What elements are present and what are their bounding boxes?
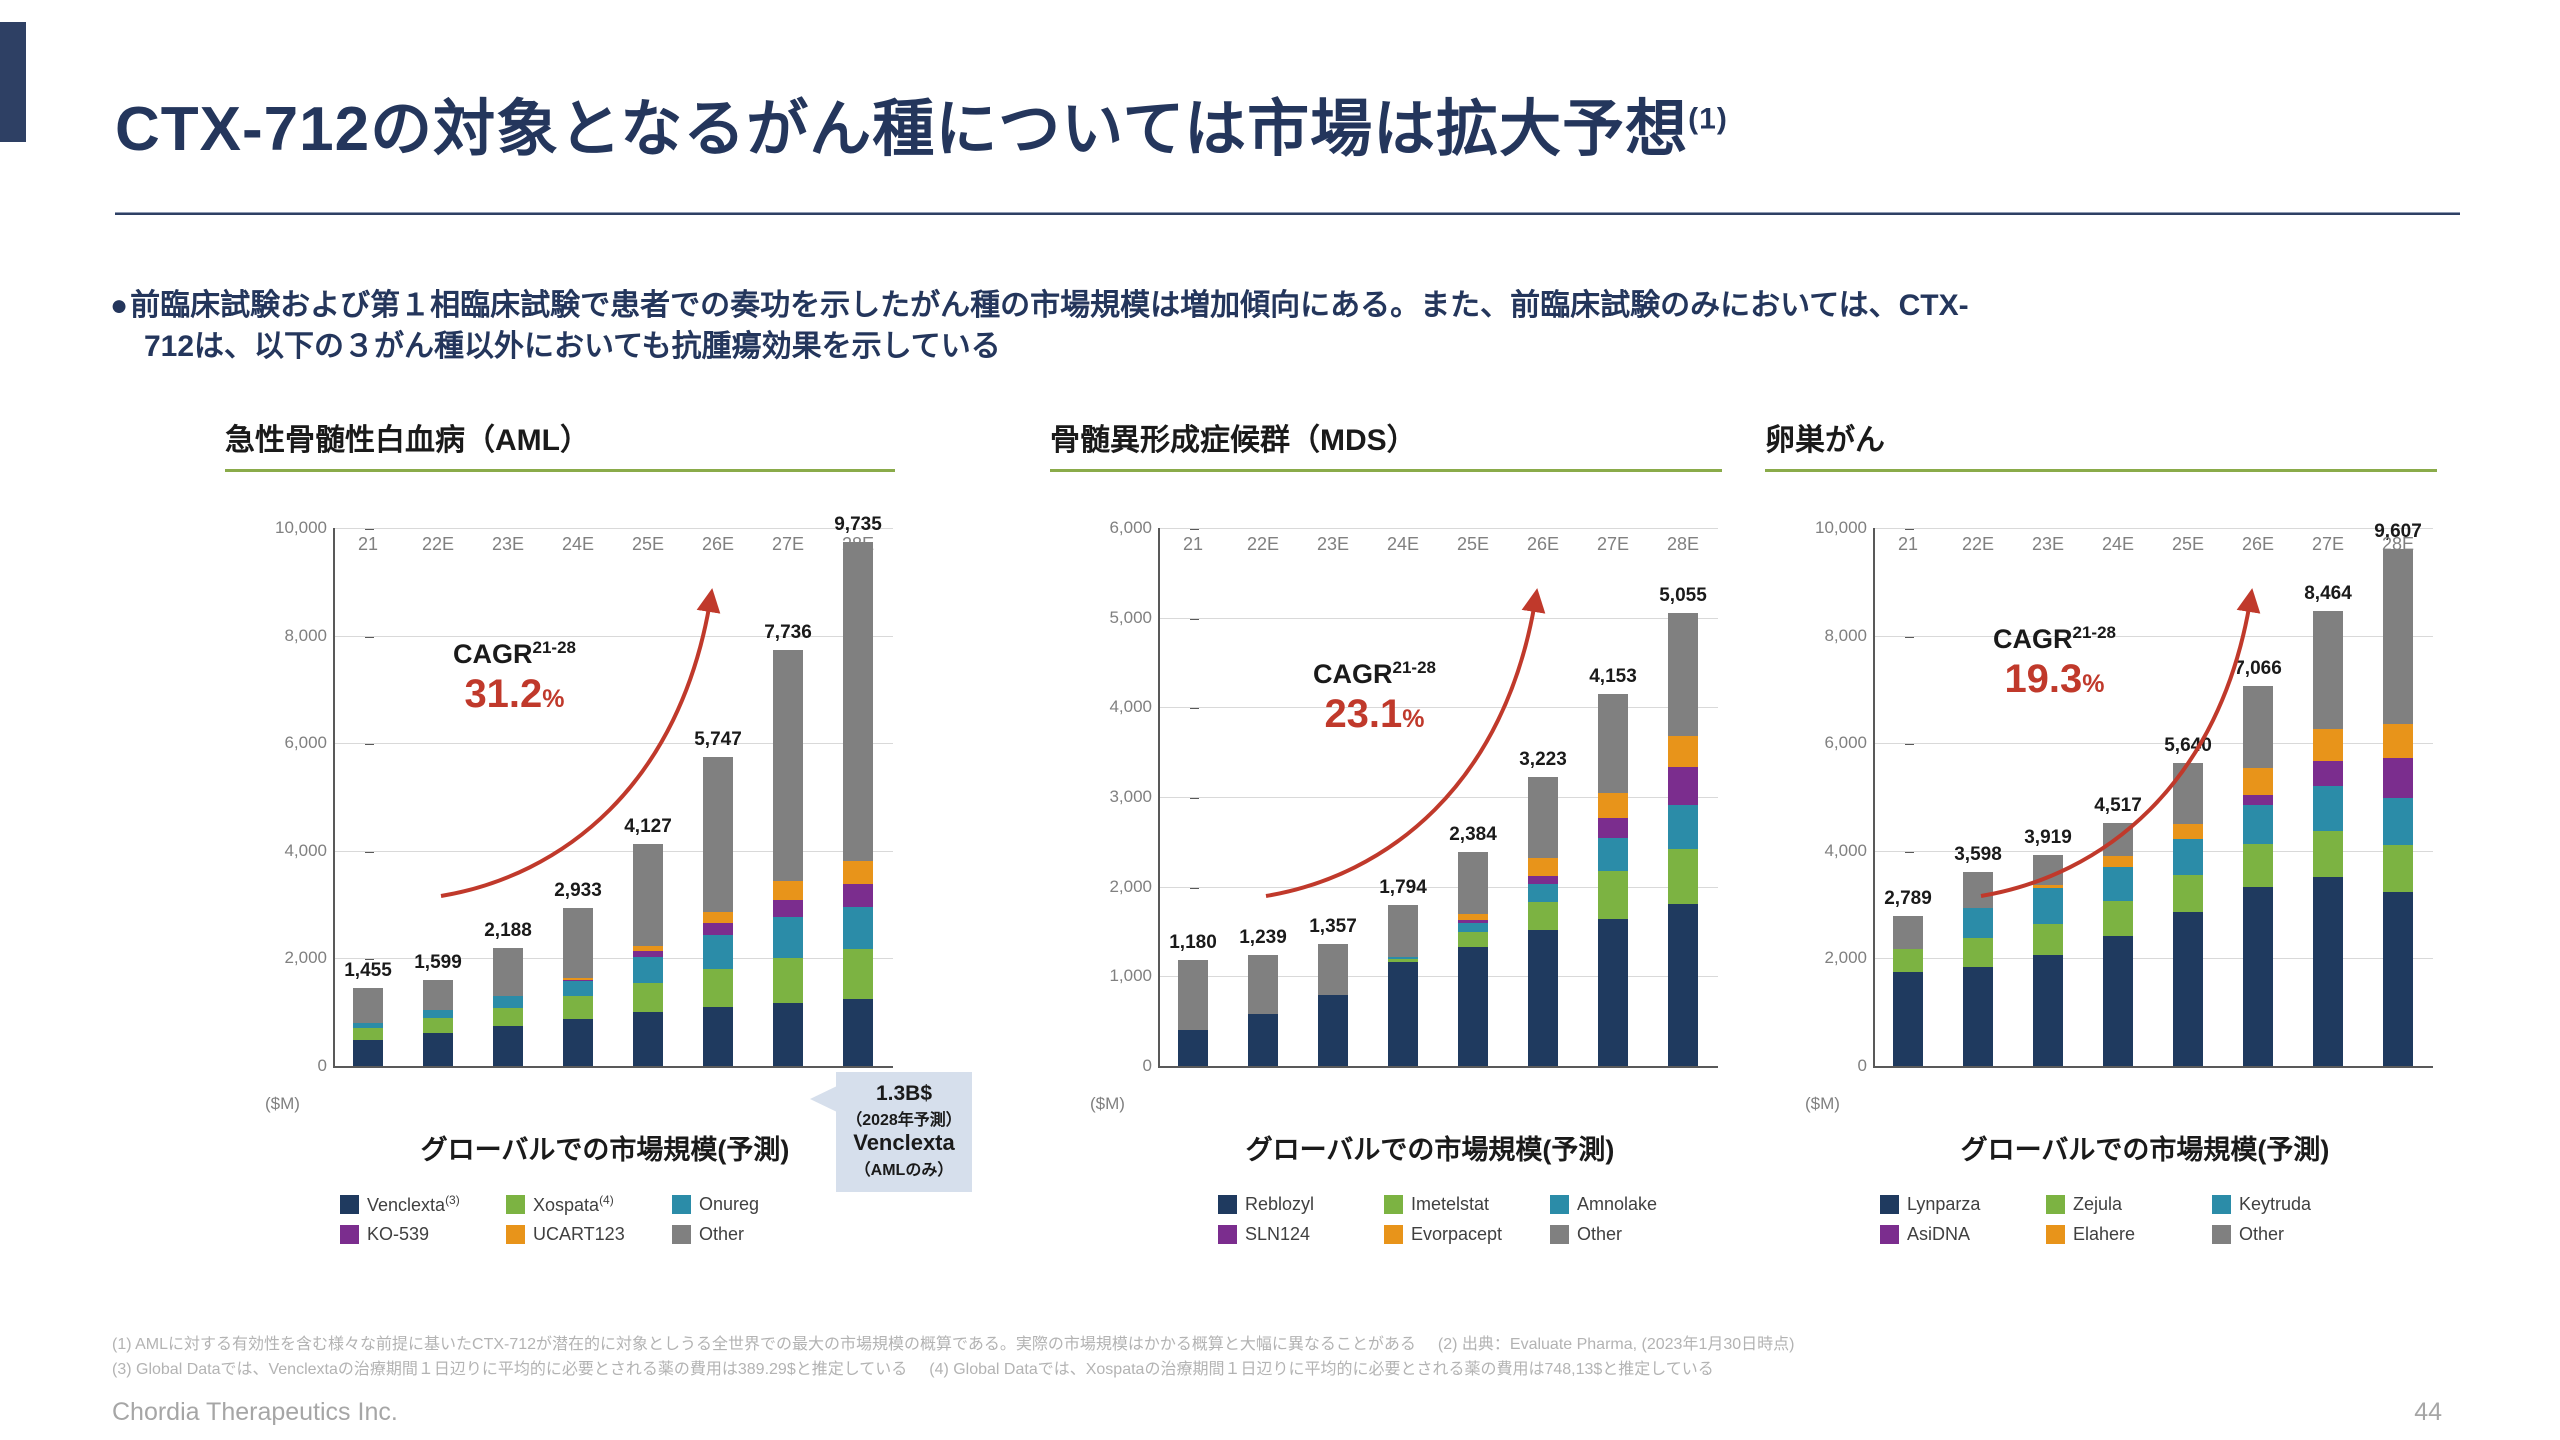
bar-column[interactable] — [1178, 960, 1207, 1066]
chart-plot-area: 02,0004,0006,0008,00010,0001,455211,5992… — [225, 516, 985, 1116]
bar-segment[interactable] — [2383, 798, 2412, 845]
bar-column[interactable] — [703, 757, 732, 1066]
bar-column[interactable] — [773, 650, 802, 1066]
x-axis-tick-label: 27E — [753, 534, 823, 555]
bar-segment[interactable] — [493, 1026, 522, 1066]
callout-value: 1.3B$ — [840, 1082, 968, 1106]
y-axis-tick-label: 6,000 — [1109, 518, 1152, 538]
bar-segment[interactable] — [1388, 962, 1417, 1066]
callout-tail-icon — [810, 1086, 837, 1112]
bar-segment[interactable] — [773, 1003, 802, 1066]
bar-segment[interactable] — [1963, 967, 1992, 1066]
legend-label-superscript: (3) — [445, 1193, 460, 1207]
bar-segment[interactable] — [843, 949, 872, 999]
bullet-text-2: 712は、以下の３がん種以外においても抗腫瘍効果を示している — [110, 326, 2470, 367]
bar-column[interactable] — [2243, 686, 2272, 1066]
bar-segment[interactable] — [493, 948, 522, 996]
legend-label: Venclexta(3) — [367, 1193, 460, 1216]
chart-title: 卵巣がん — [1765, 415, 2525, 459]
bar-segment[interactable] — [353, 1040, 382, 1066]
y-axis-tick-label: 8,000 — [1824, 626, 1867, 646]
legend-item[interactable]: AsiDNA — [1880, 1221, 2040, 1248]
legend-label: Other — [2239, 1224, 2284, 1245]
chart-title: 急性骨髄性白血病（AML） — [225, 415, 985, 459]
chart-title: 骨髄異形成症候群（MDS） — [1050, 415, 1810, 459]
chart-title-underline — [1765, 469, 2437, 472]
bar-segment[interactable] — [1458, 852, 1487, 914]
bar-segment[interactable] — [2313, 831, 2342, 877]
cagr-label: CAGR21-28 — [453, 638, 576, 670]
x-axis-line — [1873, 1066, 2433, 1068]
x-axis-tick-label: 27E — [2293, 534, 2363, 555]
bar-segment[interactable] — [2243, 686, 2272, 768]
bar-segment[interactable] — [1178, 1030, 1207, 1066]
bar-value-label: 5,747 — [694, 729, 742, 751]
x-axis-tick-label: 28E — [823, 534, 893, 555]
bar-segment[interactable] — [2173, 912, 2202, 1066]
cagr-label-text: CAGR — [1313, 659, 1393, 689]
cagr-value-unit: % — [1402, 705, 1424, 733]
bar-segment[interactable] — [1598, 818, 1627, 839]
legend-item[interactable]: Lynparza — [1880, 1191, 2040, 1218]
legend-color-swatch — [2212, 1225, 2231, 1244]
legend-item[interactable]: Other — [1550, 1221, 1710, 1248]
bar-segment[interactable] — [633, 957, 662, 983]
bar-segment[interactable] — [2103, 867, 2132, 901]
footnotes: (1) AMLに対する有効性を含む様々な前提に基いたCTX-712が潜在的に対象… — [112, 1333, 2442, 1383]
bar-segment[interactable] — [2313, 611, 2342, 729]
bar-segment[interactable] — [1893, 949, 1922, 972]
bar-segment[interactable] — [703, 757, 732, 912]
chart-legend: Venclexta(3)Xospata(4)OnuregKO-539UCART1… — [340, 1191, 832, 1248]
footnote-2: (2) 出典：Evaluate Pharma, (2023年1月30日時点) — [1438, 1336, 1795, 1353]
bullet-paragraph: ●前臨床試験および第１相臨床試験で患者での奏功を示したがん種の市場規模は増加傾向… — [110, 285, 2470, 368]
cagr-value-unit: % — [542, 685, 564, 713]
legend-item[interactable]: Keytruda — [2212, 1191, 2372, 1218]
legend-color-swatch — [672, 1195, 691, 1214]
legend-item[interactable]: Elahere — [2046, 1221, 2206, 1248]
x-axis-tick-label: 22E — [1228, 534, 1298, 555]
bar-segment[interactable] — [1528, 884, 1557, 903]
bar-column[interactable] — [1668, 613, 1697, 1066]
legend-item[interactable]: Xospata(4) — [506, 1191, 666, 1218]
legend-item[interactable]: Amnolake — [1550, 1191, 1710, 1218]
bar-column[interactable] — [2173, 763, 2202, 1066]
bar-segment[interactable] — [843, 907, 872, 950]
chart-canvas: 1,180211,23922E1,35723E1,79424E2,38425E3… — [1158, 528, 1718, 1068]
chart-legend: LynparzaZejulaKeytrudaAsiDNAElahereOther — [1880, 1191, 2372, 1248]
bar-value-label: 2,384 — [1449, 824, 1497, 846]
bar-segment[interactable] — [2033, 888, 2062, 924]
bar-segment[interactable] — [423, 980, 452, 1010]
bar-segment[interactable] — [1963, 908, 1992, 938]
legend-label: Reblozyl — [1245, 1194, 1314, 1215]
cagr-label: CAGR21-28 — [1313, 658, 1436, 690]
legend-color-swatch — [1218, 1195, 1237, 1214]
legend-color-swatch — [2046, 1195, 2065, 1214]
legend-item[interactable]: Evorpacept — [1384, 1221, 1544, 1248]
bar-segment[interactable] — [2383, 724, 2412, 758]
bar-segment[interactable] — [353, 1028, 382, 1040]
bar-segment[interactable] — [423, 1018, 452, 1032]
legend-item[interactable]: KO-539 — [340, 1221, 500, 1248]
bar-value-label: 1,599 — [414, 952, 462, 974]
bar-column[interactable] — [1388, 905, 1417, 1066]
legend-label: Onureg — [699, 1194, 759, 1215]
page-title-superscript: (1) — [1688, 102, 1728, 135]
bar-column[interactable] — [2383, 549, 2412, 1066]
legend-item[interactable]: Other — [672, 1221, 832, 1248]
bar-segment[interactable] — [563, 908, 592, 978]
chart-caption: グローバルでの市場規模(予測) — [1765, 1128, 2525, 1167]
bar-segment[interactable] — [2103, 856, 2132, 867]
bar-segment[interactable] — [1528, 902, 1557, 930]
legend-label: Imetelstat — [1411, 1194, 1489, 1215]
bullet-line-1: ●前臨床試験および第１相臨床試験で患者での奏功を示したがん種の市場規模は増加傾向… — [110, 285, 2470, 326]
bar-segment[interactable] — [843, 861, 872, 885]
bar-segment[interactable] — [703, 969, 732, 1008]
bar-value-label: 3,598 — [1954, 844, 2002, 866]
x-axis-tick-label: 25E — [613, 534, 683, 555]
chart-panel-aml: 急性骨髄性白血病（AML）02,0004,0006,0008,00010,000… — [225, 415, 985, 1116]
bar-segment[interactable] — [2243, 887, 2272, 1066]
bar-segment[interactable] — [563, 996, 592, 1019]
legend-label: Other — [1577, 1224, 1622, 1245]
footnote-row-2: (3) Global Dataでは、Venclextaの治療期間１日辺りに平均的… — [112, 1358, 2442, 1383]
cagr-period: 21-28 — [533, 638, 576, 657]
y-axis-tick-label: 10,000 — [275, 518, 327, 538]
bar-value-label: 9,735 — [834, 514, 882, 536]
chart-plot-area: 01,0002,0003,0004,0005,0006,0001,180211,… — [1050, 516, 1810, 1116]
y-axis-tick-label: 8,000 — [284, 626, 327, 646]
bar-segment[interactable] — [2243, 844, 2272, 887]
bar-segment[interactable] — [633, 983, 662, 1012]
chart-title-underline — [225, 469, 895, 472]
bar-segment[interactable] — [1598, 838, 1627, 871]
bar-group — [333, 528, 893, 1066]
y-axis-tick-label: 3,000 — [1109, 787, 1152, 807]
bar-column[interactable] — [2103, 823, 2132, 1066]
bar-value-label: 2,933 — [554, 880, 602, 902]
y-axis-tick-label: 2,000 — [1109, 877, 1152, 897]
bar-segment[interactable] — [493, 1008, 522, 1027]
y-axis-ticks: 01,0002,0003,0004,0005,0006,000 — [1090, 528, 1152, 1068]
bar-segment[interactable] — [1248, 1014, 1277, 1066]
x-axis-tick-label: 28E — [2363, 534, 2433, 555]
bar-segment[interactable] — [703, 923, 732, 935]
bar-segment[interactable] — [843, 542, 872, 860]
cagr-value: 19.3% — [1993, 657, 2116, 702]
bullet-dot-icon: ● — [110, 289, 128, 322]
legend-item[interactable]: Zejula — [2046, 1191, 2206, 1218]
bar-column[interactable] — [563, 908, 592, 1066]
cagr-label: CAGR21-28 — [1993, 623, 2116, 655]
bar-value-label: 1,455 — [344, 960, 392, 982]
legend-label: Keytruda — [2239, 1194, 2311, 1215]
bar-segment[interactable] — [703, 935, 732, 968]
chart-panel-mds: 骨髄異形成症候群（MDS）01,0002,0003,0004,0005,0006… — [1050, 415, 1810, 1116]
legend-color-swatch — [1384, 1225, 1403, 1244]
bar-column[interactable] — [493, 948, 522, 1066]
y-axis-tick-label: 10,000 — [1815, 518, 1867, 538]
legend-item[interactable]: Imetelstat — [1384, 1191, 1544, 1218]
bar-segment[interactable] — [423, 1010, 452, 1018]
bar-segment[interactable] — [353, 988, 382, 1023]
chart-title-underline — [1050, 469, 1722, 472]
legend-item[interactable]: Other — [2212, 1221, 2372, 1248]
bar-segment[interactable] — [2103, 936, 2132, 1066]
x-axis-tick-label: 21 — [1873, 534, 1943, 555]
bar-segment[interactable] — [2383, 549, 2412, 724]
bar-segment[interactable] — [2173, 763, 2202, 825]
x-axis-tick-label: 27E — [1578, 534, 1648, 555]
bar-column[interactable] — [1318, 944, 1347, 1066]
bar-segment[interactable] — [1963, 938, 1992, 967]
legend-color-swatch — [506, 1195, 525, 1214]
chart-canvas: 1,455211,59922E2,18823E2,93324E4,12725E5… — [333, 528, 893, 1068]
bar-segment[interactable] — [1528, 858, 1557, 876]
bar-value-label: 1,794 — [1379, 877, 1427, 899]
x-axis-tick-label: 26E — [1508, 534, 1578, 555]
bar-segment[interactable] — [563, 1019, 592, 1066]
x-axis-tick-label: 24E — [543, 534, 613, 555]
bar-group — [1158, 528, 1718, 1066]
legend-label: SLN124 — [1245, 1224, 1310, 1245]
bar-segment[interactable] — [1668, 904, 1697, 1066]
chart-canvas: 2,789213,59822E3,91923E4,51724E5,64025E7… — [1873, 528, 2433, 1068]
callout-scope: （AMLのみ） — [840, 1156, 968, 1180]
legend-color-swatch — [340, 1195, 359, 1214]
bar-value-label: 1,180 — [1169, 932, 1217, 954]
bar-segment[interactable] — [2313, 786, 2342, 831]
bar-value-label: 5,055 — [1659, 585, 1707, 607]
footnote-row-1: (1) AMLに対する有効性を含む様々な前提に基いたCTX-712が潜在的に対象… — [112, 1333, 2442, 1358]
bar-segment[interactable] — [1528, 777, 1557, 858]
bar-segment[interactable] — [1598, 871, 1627, 919]
legend-label: Lynparza — [1907, 1194, 1980, 1215]
bar-segment[interactable] — [773, 650, 802, 881]
legend-color-swatch — [1550, 1225, 1569, 1244]
bar-segment[interactable] — [2313, 877, 2342, 1066]
bar-segment[interactable] — [2383, 758, 2412, 798]
bar-segment[interactable] — [1458, 923, 1487, 933]
bar-segment[interactable] — [493, 996, 522, 1008]
page-title: CTX-712の対象となるがん種については市場は拡大予想(1) — [115, 78, 2465, 168]
bar-segment[interactable] — [1458, 947, 1487, 1066]
cagr-value-number: 23.1 — [1324, 692, 1402, 736]
x-axis-tick-label: 24E — [1368, 534, 1438, 555]
bar-segment[interactable] — [1668, 736, 1697, 767]
legend-color-swatch — [1218, 1225, 1237, 1244]
bar-column[interactable] — [1598, 694, 1627, 1066]
cagr-value-number: 19.3 — [2004, 657, 2082, 701]
x-axis-tick-label: 26E — [683, 534, 753, 555]
legend-label: AsiDNA — [1907, 1224, 1970, 1245]
bar-column[interactable] — [843, 542, 872, 1066]
bar-segment[interactable] — [2313, 761, 2342, 786]
chart-panel-ovarian: 卵巣がん02,0004,0006,0008,00010,0002,789213,… — [1765, 415, 2525, 1116]
cagr-annotation: CAGR21-2823.1% — [1313, 658, 1436, 737]
bar-segment[interactable] — [1668, 613, 1697, 736]
legend-label: Evorpacept — [1411, 1224, 1502, 1245]
bar-column[interactable] — [353, 988, 382, 1066]
legend-item[interactable]: SLN124 — [1218, 1221, 1378, 1248]
bar-segment[interactable] — [1528, 930, 1557, 1066]
bar-column[interactable] — [423, 980, 452, 1066]
bar-segment[interactable] — [2033, 924, 2062, 955]
chart-plot-area: 02,0004,0006,0008,00010,0002,789213,5982… — [1765, 516, 2525, 1116]
bar-segment[interactable] — [2243, 805, 2272, 845]
bar-value-label: 5,640 — [2164, 735, 2212, 757]
bar-value-label: 4,127 — [624, 816, 672, 838]
bar-segment[interactable] — [2243, 795, 2272, 805]
bar-segment[interactable] — [633, 844, 662, 946]
bar-segment[interactable] — [703, 912, 732, 924]
cagr-value: 23.1% — [1313, 692, 1436, 737]
bar-segment[interactable] — [1528, 876, 1557, 884]
bar-segment[interactable] — [2173, 824, 2202, 839]
callout-year: （2028年予測） — [840, 1106, 968, 1130]
bar-segment[interactable] — [1893, 972, 1922, 1066]
x-axis-tick-label: 22E — [1943, 534, 2013, 555]
bar-segment[interactable] — [2173, 875, 2202, 913]
bar-segment[interactable] — [1178, 960, 1207, 1030]
bar-segment[interactable] — [1318, 944, 1347, 995]
bar-segment[interactable] — [773, 900, 802, 918]
bar-value-label: 7,736 — [764, 622, 812, 644]
legend-color-swatch — [1550, 1195, 1569, 1214]
bar-segment[interactable] — [703, 1007, 732, 1066]
bar-segment[interactable] — [1458, 932, 1487, 946]
cagr-label-text: CAGR — [1993, 624, 2073, 654]
cagr-value-number: 31.2 — [464, 672, 542, 716]
chart-legend: ReblozylImetelstatAmnolakeSLN124Evorpace… — [1218, 1191, 1710, 1248]
legend-item[interactable]: Venclexta(3) — [340, 1191, 500, 1218]
bar-value-label: 4,517 — [2094, 795, 2142, 817]
bar-segment[interactable] — [1963, 872, 1992, 907]
bar-value-label: 2,188 — [484, 920, 532, 942]
bar-segment[interactable] — [1598, 694, 1627, 793]
bar-segment[interactable] — [2383, 892, 2412, 1066]
bar-segment[interactable] — [773, 958, 802, 1003]
legend-color-swatch — [2212, 1195, 2231, 1214]
bar-column[interactable] — [1458, 852, 1487, 1066]
bar-segment[interactable] — [2033, 955, 2062, 1066]
x-axis-tick-label: 23E — [1298, 534, 1368, 555]
bar-segment[interactable] — [1893, 916, 1922, 949]
bar-column[interactable] — [1248, 955, 1277, 1066]
cagr-period: 21-28 — [2073, 623, 2116, 642]
bar-column[interactable] — [1963, 872, 1992, 1066]
bar-segment[interactable] — [1668, 805, 1697, 849]
bar-segment[interactable] — [2173, 839, 2202, 875]
legend-item[interactable]: Onureg — [672, 1191, 832, 1218]
legend-label: Zejula — [2073, 1194, 2122, 1215]
y-axis-tick-label: 4,000 — [1109, 697, 1152, 717]
bar-value-label: 1,239 — [1239, 927, 1287, 949]
slide-accent-bar — [0, 22, 26, 142]
cagr-annotation: CAGR21-2819.3% — [1993, 623, 2116, 702]
bar-column[interactable] — [1893, 916, 1922, 1066]
bar-segment[interactable] — [1598, 919, 1627, 1067]
bar-segment[interactable] — [633, 1012, 662, 1066]
cagr-annotation: CAGR21-2831.2% — [453, 638, 576, 717]
bar-segment[interactable] — [1388, 905, 1417, 956]
page-title-text: CTX-712の対象となるがん種については市場は拡大予想 — [115, 95, 1688, 164]
bar-segment[interactable] — [843, 884, 872, 907]
legend-label: Xospata(4) — [533, 1193, 614, 1216]
legend-label-superscript: (4) — [599, 1193, 614, 1207]
y-axis-tick-label: 0 — [1143, 1056, 1152, 1076]
x-axis-tick-label: 23E — [473, 534, 543, 555]
bar-column[interactable] — [2033, 855, 2062, 1066]
bar-segment[interactable] — [773, 881, 802, 900]
bar-segment[interactable] — [843, 999, 872, 1066]
bar-value-label: 4,153 — [1589, 666, 1637, 688]
axis-unit-label: ($M) — [265, 1094, 300, 1114]
bar-column[interactable] — [633, 844, 662, 1066]
legend-item[interactable]: Reblozyl — [1218, 1191, 1378, 1218]
y-axis-tick-label: 4,000 — [1824, 841, 1867, 861]
y-axis-ticks: 02,0004,0006,0008,00010,000 — [265, 528, 327, 1068]
page-title-block: CTX-712の対象となるがん種については市場は拡大予想(1) — [115, 78, 2465, 168]
cagr-label-text: CAGR — [453, 639, 533, 669]
legend-item[interactable]: UCART123 — [506, 1221, 666, 1248]
legend-color-swatch — [672, 1225, 691, 1244]
x-axis-line — [1158, 1066, 1718, 1068]
bar-segment[interactable] — [2103, 823, 2132, 856]
x-axis-tick-label: 21 — [333, 534, 403, 555]
title-divider — [115, 212, 2460, 215]
bar-segment[interactable] — [773, 917, 802, 958]
legend-color-swatch — [506, 1225, 525, 1244]
footnote-3: (3) Global Dataでは、Venclextaの治療期間１日辺りに平均的… — [112, 1361, 907, 1378]
y-axis-tick-label: 6,000 — [1824, 733, 1867, 753]
x-axis-tick-label: 25E — [1438, 534, 1508, 555]
legend-label: Elahere — [2073, 1224, 2135, 1245]
y-axis-tick-label: 2,000 — [284, 948, 327, 968]
legend-color-swatch — [340, 1225, 359, 1244]
x-axis-tick-label: 23E — [2013, 534, 2083, 555]
bar-segment[interactable] — [423, 1033, 452, 1066]
bar-column[interactable] — [2313, 611, 2342, 1066]
bar-value-label: 3,919 — [2024, 827, 2072, 849]
y-axis-tick-label: 0 — [1858, 1056, 1867, 1076]
bar-column[interactable] — [1528, 777, 1557, 1066]
bar-segment[interactable] — [1668, 767, 1697, 806]
bar-segment[interactable] — [2313, 729, 2342, 761]
x-axis-tick-label: 26E — [2223, 534, 2293, 555]
footer-page-number: 44 — [2414, 1398, 2442, 1427]
axis-unit-label: ($M) — [1805, 1094, 1840, 1114]
bar-segment[interactable] — [2033, 855, 2062, 885]
bar-segment[interactable] — [1318, 995, 1347, 1066]
y-axis-tick-label: 6,000 — [284, 733, 327, 753]
bar-segment[interactable] — [2243, 768, 2272, 795]
legend-label: Other — [699, 1224, 744, 1245]
legend-label: UCART123 — [533, 1224, 625, 1245]
bar-segment[interactable] — [1598, 793, 1627, 818]
y-axis-tick-label: 2,000 — [1824, 948, 1867, 968]
bar-group — [1873, 528, 2433, 1066]
y-axis-tick-label: 1,000 — [1109, 966, 1152, 986]
bar-segment[interactable] — [2383, 845, 2412, 892]
bar-segment[interactable] — [563, 981, 592, 996]
bar-segment[interactable] — [1668, 849, 1697, 904]
bar-segment[interactable] — [1248, 955, 1277, 1014]
legend-color-swatch — [1880, 1195, 1899, 1214]
bar-segment[interactable] — [2103, 901, 2132, 935]
